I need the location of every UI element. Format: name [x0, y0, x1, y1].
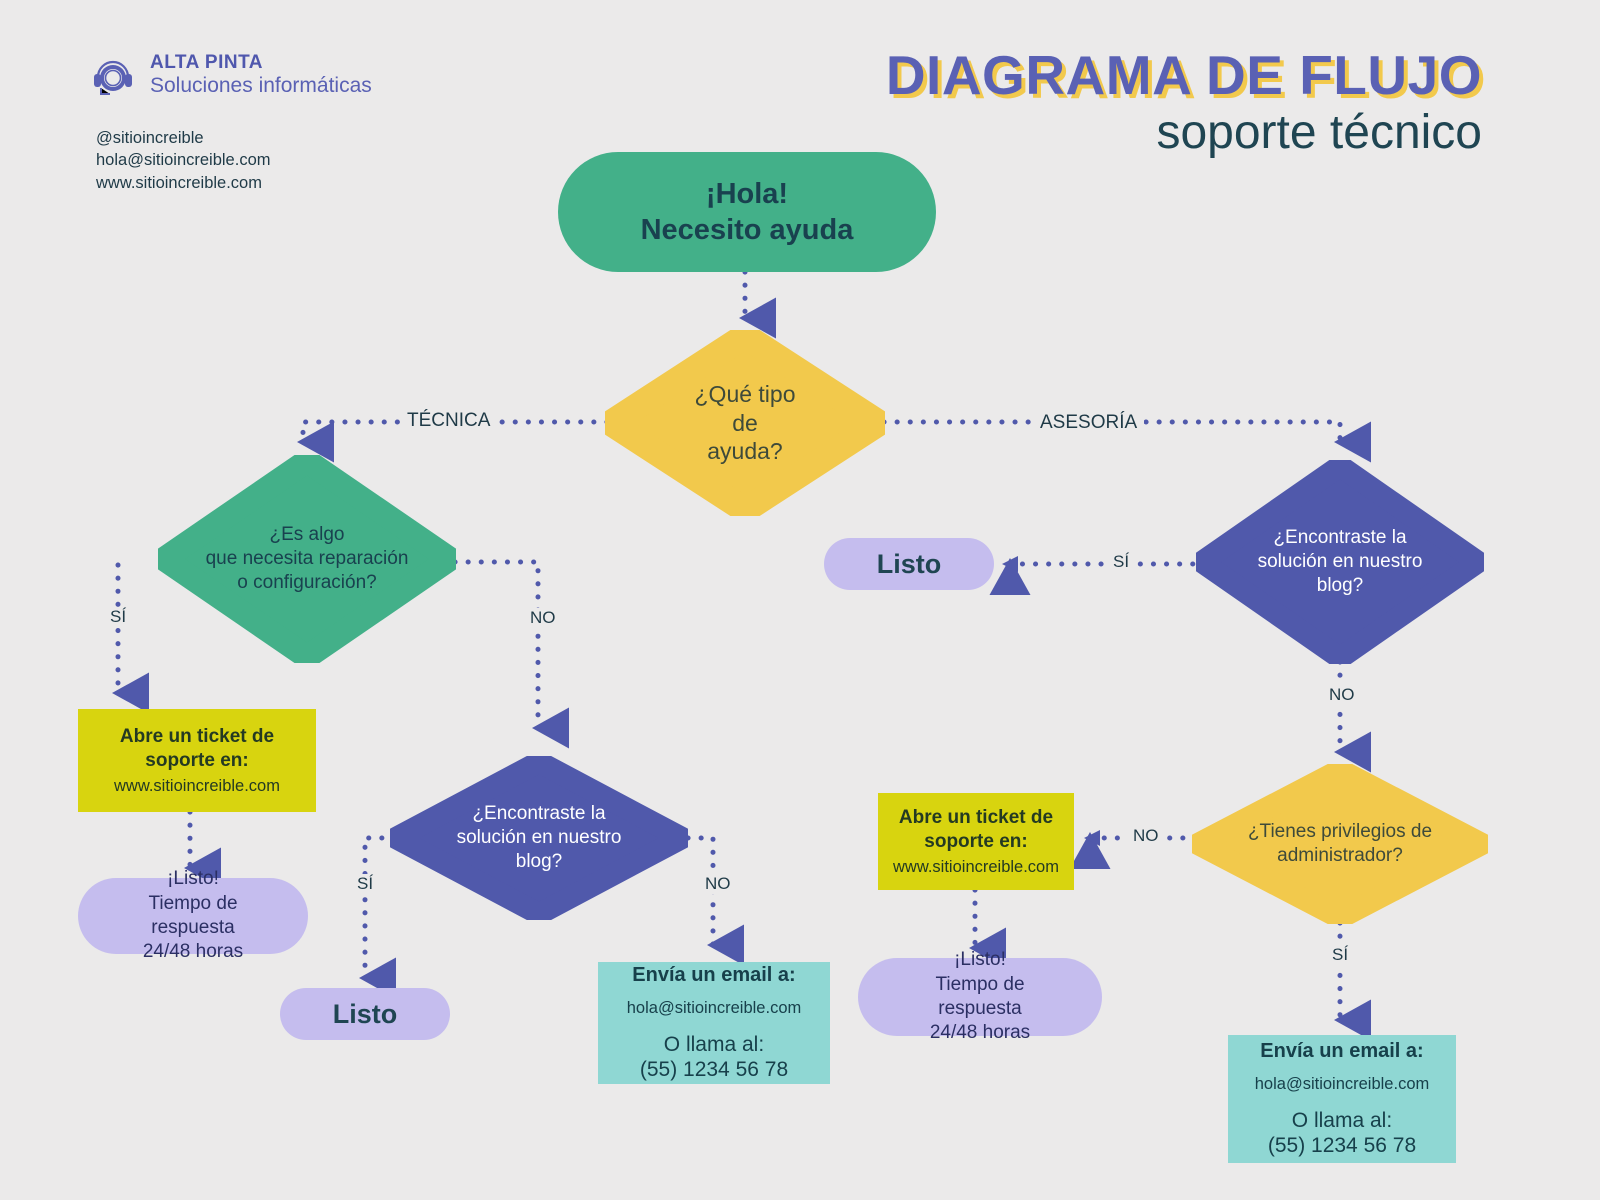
node-listo-right: Listo: [824, 538, 994, 590]
arrow-left-listo: [1002, 556, 1018, 572]
node-question-help-type: ¿Qué tipo de ayuda?: [605, 330, 885, 516]
email-right-title: Envía un email a:: [1260, 1040, 1423, 1063]
edge-label-no-repair: NO: [523, 608, 563, 628]
email-right-call-label: O llama al:: [1268, 1108, 1416, 1133]
node-ready-left: ¡Listo! Tiempo de respuesta 24/48 horas: [78, 878, 308, 954]
ready-right-l1: ¡Listo!: [930, 948, 1030, 972]
brand-logo: ALTA PINTA Soluciones informáticas: [88, 50, 372, 100]
repair-line2: que necesita reparación: [206, 547, 409, 571]
contact-email: hola@sitioincreible.com: [96, 149, 271, 171]
blog-left-line1: ¿Encontraste la: [457, 802, 622, 826]
ticket-right-title1: Abre un ticket de: [899, 806, 1053, 830]
edge-label-si-blog-left: SÍ: [350, 874, 380, 894]
gear-headset-icon: [88, 50, 138, 100]
edge-label-si-blog-right: SÍ: [1106, 552, 1136, 572]
admin-line1: ¿Tienes privilegios de: [1248, 820, 1432, 844]
contact-info: @sitioincreible hola@sitioincreible.com …: [96, 127, 271, 194]
help-type-line2: de: [695, 409, 796, 438]
ticket-left-title2: soporte en:: [120, 749, 274, 773]
edge-label-no-admin: NO: [1126, 826, 1166, 846]
node-email-left: Envía un email a: hola@sitioincreible.co…: [598, 962, 830, 1084]
email-right-phone: (55) 1234 56 78: [1268, 1133, 1416, 1158]
node-email-right: Envía un email a: hola@sitioincreible.co…: [1228, 1035, 1456, 1163]
node-ticket-right: Abre un ticket de soporte en: www.sitioi…: [878, 793, 1074, 890]
ready-right-l2: Tiempo de: [930, 973, 1030, 997]
page-title: DIAGRAMA DE FLUJO: [886, 48, 1482, 103]
blog-left-line2: solución en nuestro: [457, 826, 622, 850]
node-start-line1: ¡Hola!: [641, 176, 854, 212]
ready-left-l3: respuesta: [143, 916, 243, 940]
repair-line3: o configuración?: [206, 571, 409, 595]
node-start: ¡Hola! Necesito ayuda: [558, 152, 936, 272]
edge-label-si-admin: SÍ: [1325, 945, 1355, 965]
contact-website: www.sitioincreible.com: [96, 172, 271, 194]
node-ready-right: ¡Listo! Tiempo de respuesta 24/48 horas: [858, 958, 1102, 1036]
node-question-admin: ¿Tienes privilegios de administrador?: [1192, 764, 1488, 924]
admin-line2: administrador?: [1248, 844, 1432, 868]
ticket-right-title2: soporte en:: [899, 830, 1053, 854]
ready-right-l4: 24/48 horas: [930, 1021, 1030, 1045]
node-question-blog-left: ¿Encontraste la solución en nuestro blog…: [390, 756, 688, 920]
ticket-left-title1: Abre un ticket de: [120, 725, 274, 749]
arrow-left-ticket: [1084, 830, 1100, 846]
edge-label-asesoria: ASESORÍA: [1033, 412, 1144, 434]
brand-tagline: Soluciones informáticas: [150, 74, 372, 98]
email-left-call-label: O llama al:: [640, 1032, 788, 1057]
email-left-title: Envía un email a:: [632, 964, 795, 987]
ticket-left-url: www.sitioincreible.com: [114, 777, 280, 796]
blog-left-line3: blog?: [457, 850, 622, 874]
edge-label-tecnica: TÉCNICA: [400, 410, 497, 432]
ready-right-l3: respuesta: [930, 997, 1030, 1021]
title-block: DIAGRAMA DE FLUJO soporte técnico: [886, 48, 1482, 160]
node-listo-left: Listo: [280, 988, 450, 1040]
node-question-blog-right: ¿Encontraste la solución en nuestro blog…: [1196, 460, 1484, 664]
blog-right-line1: ¿Encontraste la: [1258, 526, 1423, 550]
brand-name: ALTA PINTA: [150, 52, 372, 74]
email-left-address: hola@sitioincreible.com: [627, 999, 802, 1018]
help-type-line1: ¿Qué tipo: [695, 380, 796, 409]
node-question-repair: ¿Es algo que necesita reparación o confi…: [158, 455, 456, 663]
blog-right-line3: blog?: [1258, 574, 1423, 598]
ready-left-l1: ¡Listo!: [143, 867, 243, 891]
help-type-line3: ayuda?: [695, 437, 796, 466]
email-left-phone: (55) 1234 56 78: [640, 1057, 788, 1082]
blog-right-line2: solución en nuestro: [1258, 550, 1423, 574]
node-ticket-left: Abre un ticket de soporte en: www.sitioi…: [78, 709, 316, 812]
edge-label-no-blog-left: NO: [698, 874, 738, 894]
node-start-line2: Necesito ayuda: [641, 212, 854, 248]
ready-left-l2: Tiempo de: [143, 892, 243, 916]
edge-label-si-repair: SÍ: [103, 607, 133, 627]
contact-handle: @sitioincreible: [96, 127, 271, 149]
edge-label-no-blog-right: NO: [1322, 685, 1362, 705]
email-right-address: hola@sitioincreible.com: [1255, 1075, 1430, 1094]
ready-left-l4: 24/48 horas: [143, 940, 243, 964]
flowchart-canvas: ALTA PINTA Soluciones informáticas @siti…: [0, 0, 1600, 1200]
page-subtitle: soporte técnico: [886, 105, 1482, 160]
repair-line1: ¿Es algo: [206, 523, 409, 547]
ticket-right-url: www.sitioincreible.com: [893, 858, 1059, 877]
